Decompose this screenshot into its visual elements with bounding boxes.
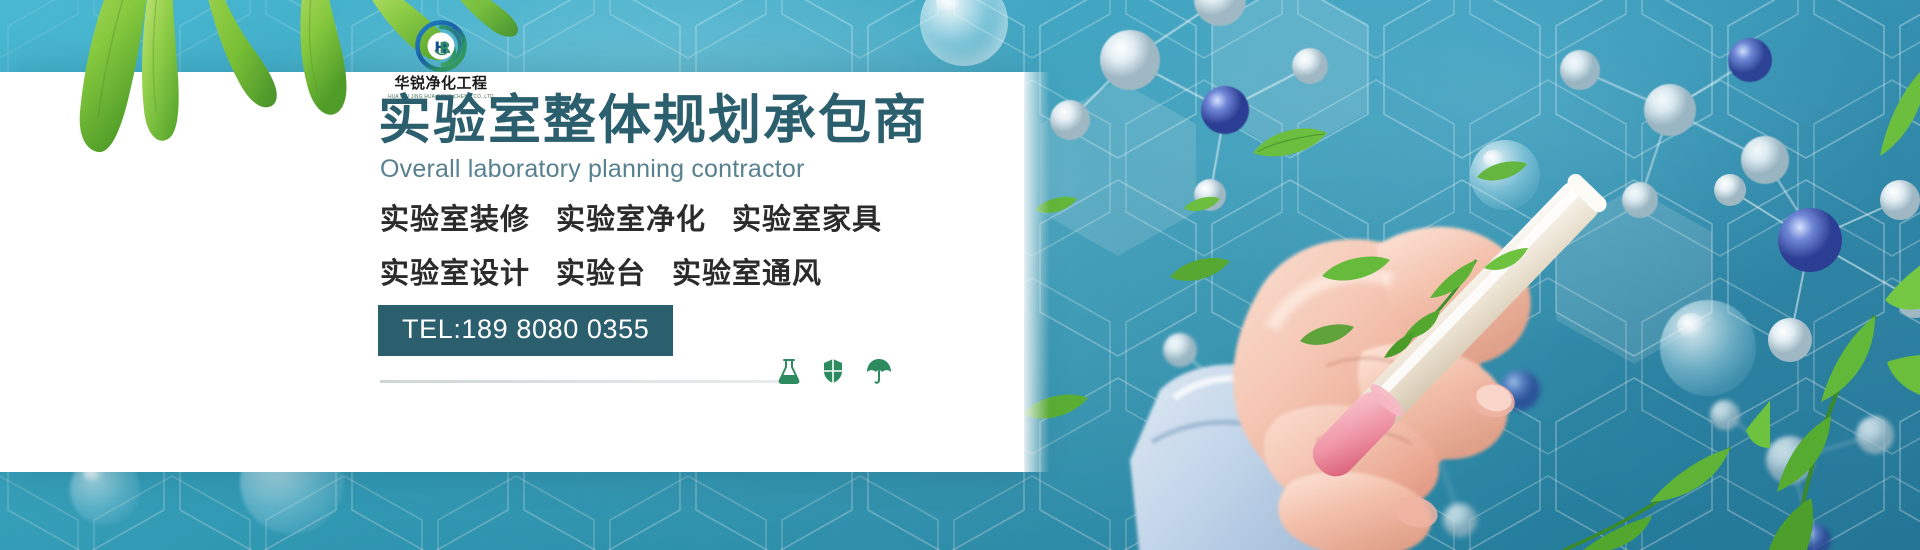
floating-leaf (1475, 160, 1529, 184)
floating-leaf (1298, 323, 1356, 349)
service-item: 实验室装修 (380, 202, 530, 236)
page-subtitle: Overall laboratory planning contractor (380, 155, 804, 184)
floating-leaf (1168, 257, 1232, 285)
floating-leaf (1020, 393, 1090, 423)
service-item: 实验室净化 (556, 202, 706, 236)
bamboo-spray (1560, 390, 1770, 550)
service-item: 实验台 (556, 256, 646, 290)
page-title: 实验室整体规划承包商 (378, 94, 928, 147)
flask-icon (778, 358, 800, 384)
service-item: 实验室家具 (732, 202, 882, 236)
service-item: 实验室设计 (380, 256, 530, 290)
service-list-row-2: 实验室设计实验台实验室通风 (380, 250, 822, 292)
brand-logo[interactable]: H R 华锐净化工程 HUA RUI JING HUA GONG CHENG C… (382, 20, 500, 99)
bamboo-spray (1380, 236, 1530, 366)
floating-leaf (1870, 60, 1920, 180)
trust-icon-row (778, 358, 892, 384)
laboratory-banner: H R 华锐净化工程 HUA RUI JING HUA GONG CHENG C… (0, 0, 1920, 550)
hr-circle-logo-icon: H R (415, 20, 467, 72)
shield-icon (822, 358, 844, 384)
floating-leaf (1182, 196, 1222, 214)
umbrella-icon (866, 358, 892, 384)
phone-button[interactable]: TEL:189 8080 0355 (378, 305, 673, 356)
divider-line (380, 380, 780, 383)
service-item: 实验室通风 (672, 256, 822, 290)
floating-leaf (1251, 127, 1329, 161)
service-list-row-1: 实验室装修实验室净化实验室家具 (380, 196, 882, 238)
floating-leaf (1033, 196, 1079, 216)
